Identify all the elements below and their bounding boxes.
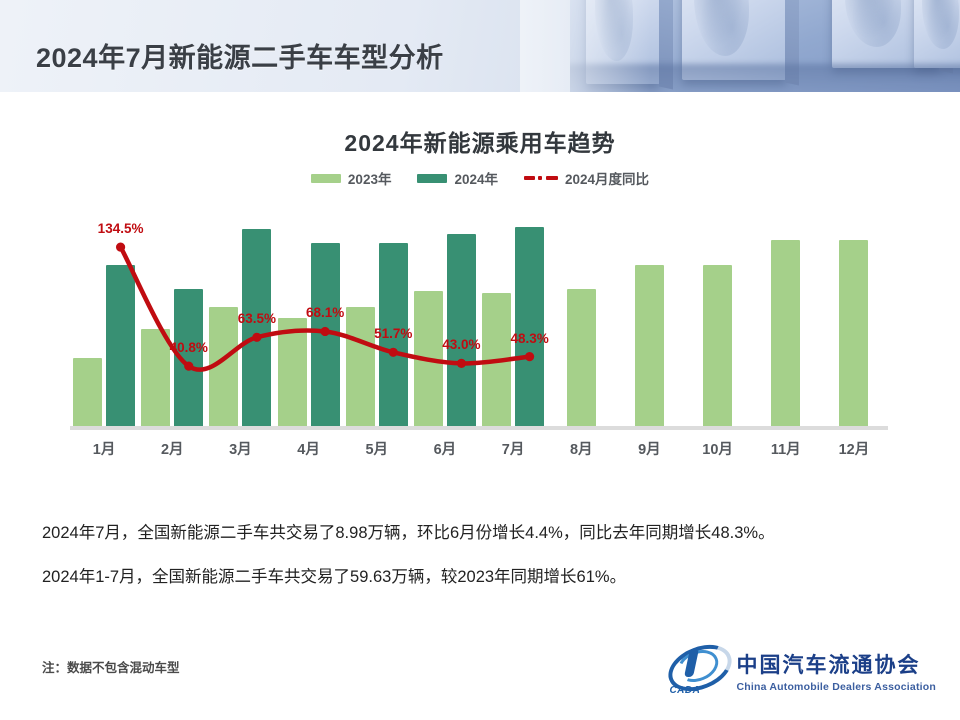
bar-2024-2月 [174,289,203,426]
month-group [615,205,683,426]
x-axis-tick-8月: 8月 [547,438,615,459]
x-axis-tick-2月: 2月 [138,438,206,459]
bar-2023-7月 [482,293,511,426]
x-axis-tick-11月: 11月 [752,438,820,459]
cada-logo-mark-icon: CADA [665,645,727,697]
logo-text: 中国汽车流通协会 China Automobile Dealers Associ… [736,649,936,693]
legend-item-2023: 2023年 [311,168,392,188]
logo-name-cn: 中国汽车流通协会 [736,649,936,679]
header-decorative-cubes-image [570,0,960,92]
legend-label-yoy: 2024月度同比 [565,168,649,188]
chart-baseline [70,426,888,430]
bar-2024-7月 [515,227,544,426]
decorative-cube [682,0,786,80]
page-title: 2024年7月新能源二手车车型分析 [36,36,444,75]
bar-2024-6月 [447,234,476,426]
x-axis-tick-6月: 6月 [411,438,479,459]
bar-2024-4月 [311,243,340,426]
month-group [343,205,411,426]
decorative-cube [586,0,660,84]
bar-2023-8月 [567,289,596,426]
month-group [684,205,752,426]
chart-title: 2024年新能源乘用车趋势 [0,124,960,158]
x-axis-tick-12月: 12月 [820,438,888,459]
body-text-block: 2024年7月，全国新能源二手车共交易了8.98万辆，环比6月份增长4.4%，同… [42,522,922,611]
month-group [138,205,206,426]
data-label-1月: 134.5% [98,221,144,236]
month-group [479,205,547,426]
data-label-5月: 51.7% [374,326,412,341]
body-line-1: 2024年7月，全国新能源二手车共交易了8.98万辆，环比6月份增长4.4%，同… [42,522,922,544]
x-axis-tick-7月: 7月 [479,438,547,459]
bar-2023-5月 [346,307,375,426]
x-axis-tick-5月: 5月 [343,438,411,459]
bar-2023-6月 [414,291,443,426]
x-axis-tick-10月: 10月 [684,438,752,459]
data-label-7月: 48.3% [510,331,548,346]
legend-swatch-2024 [417,174,447,183]
x-axis-tick-4月: 4月 [275,438,343,459]
month-group [547,205,615,426]
legend-label-2023: 2023年 [348,168,392,188]
bar-2023-4月 [278,318,307,426]
data-label-4月: 68.1% [306,305,344,320]
bar-2024-3月 [242,229,271,426]
month-group [70,205,138,426]
decorative-cube [914,0,960,68]
bar-2023-3月 [209,307,238,426]
legend-dashdot-line-icon [524,176,558,180]
data-label-2月: 40.8% [170,340,208,355]
x-axis-tick-9月: 9月 [615,438,683,459]
month-group [411,205,479,426]
data-label-6月: 43.0% [442,337,480,352]
bar-2023-2月 [141,329,170,426]
month-group [820,205,888,426]
legend-item-2024: 2024年 [417,168,498,188]
body-line-2: 2024年1-7月，全国新能源二手车共交易了59.63万辆，较2023年同期增长… [42,566,922,588]
chart-container: 2024年新能源乘用车趋势 2023年 2024年 2024月度同比 134.5… [0,100,960,460]
footnote: 注：数据不包含混动车型 [42,657,180,676]
bar-2023-12月 [839,240,868,426]
data-label-3月: 63.5% [238,311,276,326]
bar-2023-1月 [73,358,102,427]
legend-label-2024: 2024年 [454,168,498,188]
x-axis-labels: 1月2月3月4月5月6月7月8月9月10月11月12月 [70,438,888,460]
x-axis-tick-3月: 3月 [206,438,274,459]
month-group [752,205,820,426]
plot-area: 134.5%40.8%63.5%68.1%51.7%43.0%48.3% [70,205,888,430]
logo-abbr: CADA [669,685,700,696]
logo-name-en: China Automobile Dealers Association [736,681,936,693]
x-axis-tick-1月: 1月 [70,438,138,459]
cada-logo: CADA 中国汽车流通协会 China Automobile Dealers A… [665,645,936,697]
legend-swatch-2023 [311,174,341,183]
legend-item-yoy: 2024月度同比 [524,168,649,188]
slide-header-band: 2024年7月新能源二手车车型分析 [0,0,960,92]
bar-2023-11月 [771,240,800,426]
bar-2024-1月 [106,265,135,426]
bar-2023-10月 [703,265,732,426]
chart-legend: 2023年 2024年 2024月度同比 [0,168,960,188]
bar-2023-9月 [635,265,664,426]
